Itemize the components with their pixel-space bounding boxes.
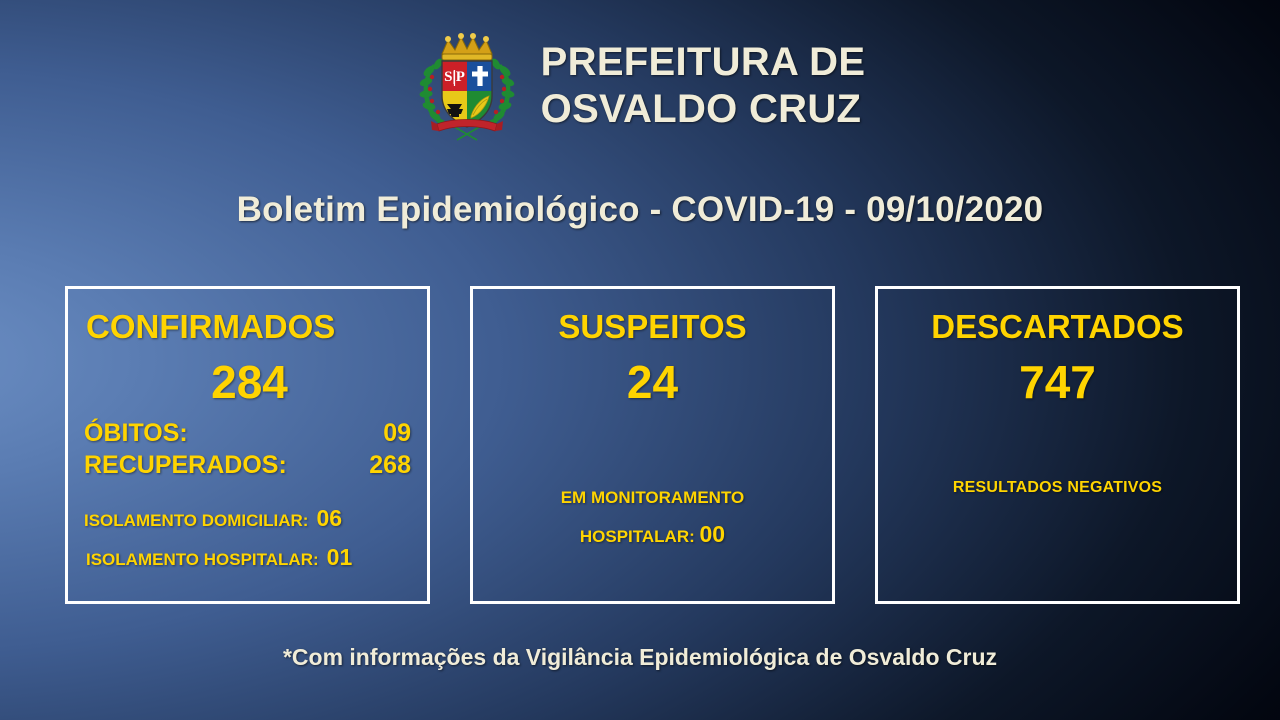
confirmados-breakdown: ÓBITOS: 09 RECUPERADOS: 268 — [78, 417, 417, 481]
row-isolamento-hospitalar-label: ISOLAMENTO HOSPITALAR: — [86, 546, 319, 575]
card-suspeitos-heading: SUSPEITOS — [483, 310, 822, 343]
row-isolamento-domiciliar-value: 06 — [316, 499, 342, 538]
stats-cards: CONFIRMADOS 284 ÓBITOS: 09 RECUPERADOS: … — [65, 286, 1240, 604]
row-obitos: ÓBITOS: 09 — [84, 417, 411, 449]
source-note: *Com informações da Vigilância Epidemiol… — [0, 644, 1280, 671]
coat-of-arms-icon: S|P — [415, 30, 519, 142]
row-recuperados-label: RECUPERADOS: — [84, 449, 287, 481]
confirmados-isolation: ISOLAMENTO DOMICILIAR: 06 ISOLAMENTO HOS… — [78, 499, 417, 577]
row-isolamento-domiciliar-label: ISOLAMENTO DOMICILIAR: — [84, 507, 308, 536]
card-suspeitos-value: 24 — [483, 359, 822, 405]
descartados-note: RESULTADOS NEGATIVOS — [878, 479, 1237, 497]
row-recuperados-value: 268 — [369, 449, 411, 481]
row-obitos-value: 09 — [383, 417, 411, 449]
row-recuperados: RECUPERADOS: 268 — [84, 449, 411, 481]
row-isolamento-domiciliar: ISOLAMENTO DOMICILIAR: 06 — [84, 499, 409, 538]
card-descartados: DESCARTADOS 747 RESULTADOS NEGATIVOS — [875, 286, 1240, 604]
suspeitos-note-hospitalar-value: 00 — [700, 521, 726, 547]
suspeitos-note-monitoramento: EM MONITORAMENTO — [473, 489, 832, 506]
suspeitos-note-hospitalar-label: HOSPITALAR: — [580, 527, 695, 546]
card-suspeitos: SUSPEITOS 24 EM MONITORAMENTO HOSPITALAR… — [470, 286, 835, 604]
card-confirmados: CONFIRMADOS 284 ÓBITOS: 09 RECUPERADOS: … — [65, 286, 430, 604]
row-isolamento-hospitalar: ISOLAMENTO HOSPITALAR: 01 — [84, 538, 409, 577]
organization-name: PREFEITURA DE OSVALDO CRUZ — [541, 39, 866, 133]
row-obitos-label: ÓBITOS: — [84, 417, 188, 449]
suspeitos-note-hospitalar: HOSPITALAR: 00 — [473, 523, 832, 546]
card-confirmados-value: 284 — [78, 359, 417, 405]
page-title: Boletim Epidemiológico - COVID-19 - 09/1… — [0, 190, 1280, 230]
bulletin-slide: S|P — [0, 0, 1280, 720]
card-descartados-value: 747 — [888, 359, 1227, 405]
card-descartados-heading: DESCARTADOS — [888, 310, 1227, 343]
row-isolamento-hospitalar-value: 01 — [327, 538, 353, 577]
header: S|P — [0, 30, 1280, 142]
card-confirmados-heading: CONFIRMADOS — [78, 310, 417, 343]
